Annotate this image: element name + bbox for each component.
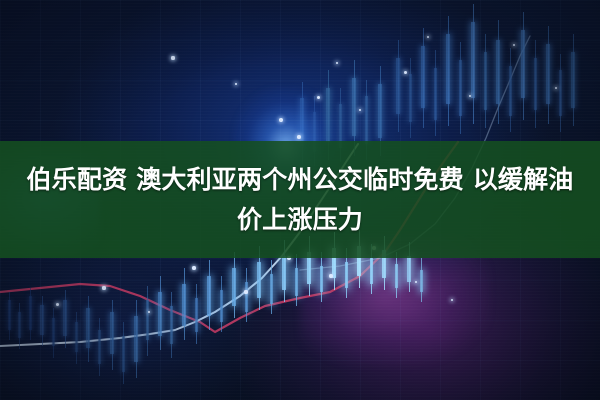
headline-text: 伯乐配资 澳大利亚两个州公交临时免费 以缓解油 价上涨压力 [20, 160, 580, 240]
headline-line-1: 伯乐配资 澳大利亚两个州公交临时免费 以缓解油 [20, 160, 580, 200]
headline-line-2: 价上涨压力 [20, 200, 580, 240]
news-thumbnail: 伯乐配资 澳大利亚两个州公交临时免费 以缓解油 价上涨压力 [0, 0, 600, 400]
headline-band: 伯乐配资 澳大利亚两个州公交临时免费 以缓解油 价上涨压力 [0, 141, 600, 258]
